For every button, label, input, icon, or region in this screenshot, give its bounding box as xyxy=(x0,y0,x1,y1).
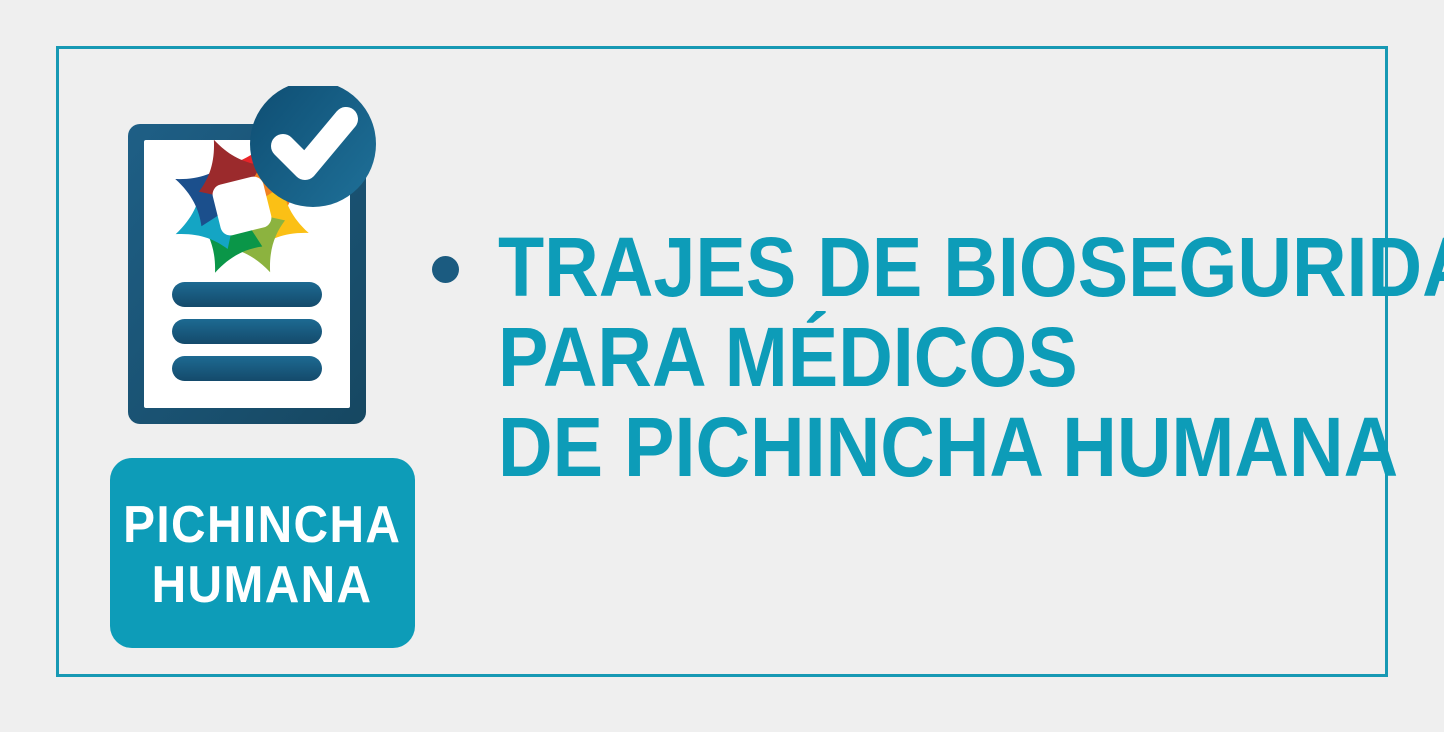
verified-document-icon xyxy=(120,86,420,431)
pichincha-humana-badge: PICHINCHA HUMANA xyxy=(110,458,415,648)
headline-text: TRAJES DE BIOSEGURIDAD PARA MÉDICOS DE P… xyxy=(498,222,1382,492)
headline-block: TRAJES DE BIOSEGURIDAD PARA MÉDICOS DE P… xyxy=(432,222,1382,492)
bullet-point-icon xyxy=(432,256,459,283)
headline-line-1: TRAJES DE BIOSEGURIDAD xyxy=(498,222,1294,312)
badge-line-2: HUMANA xyxy=(152,555,373,615)
poster-canvas: PICHINCHA HUMANA TRAJES DE BIOSEGURIDAD … xyxy=(0,0,1444,732)
document-text-lines xyxy=(172,282,322,381)
badge-line-1: PICHINCHA xyxy=(123,495,401,555)
headline-line-2: PARA MÉDICOS xyxy=(498,312,1294,402)
headline-line-3: DE PICHINCHA HUMANA xyxy=(498,402,1294,492)
check-badge xyxy=(250,86,376,207)
